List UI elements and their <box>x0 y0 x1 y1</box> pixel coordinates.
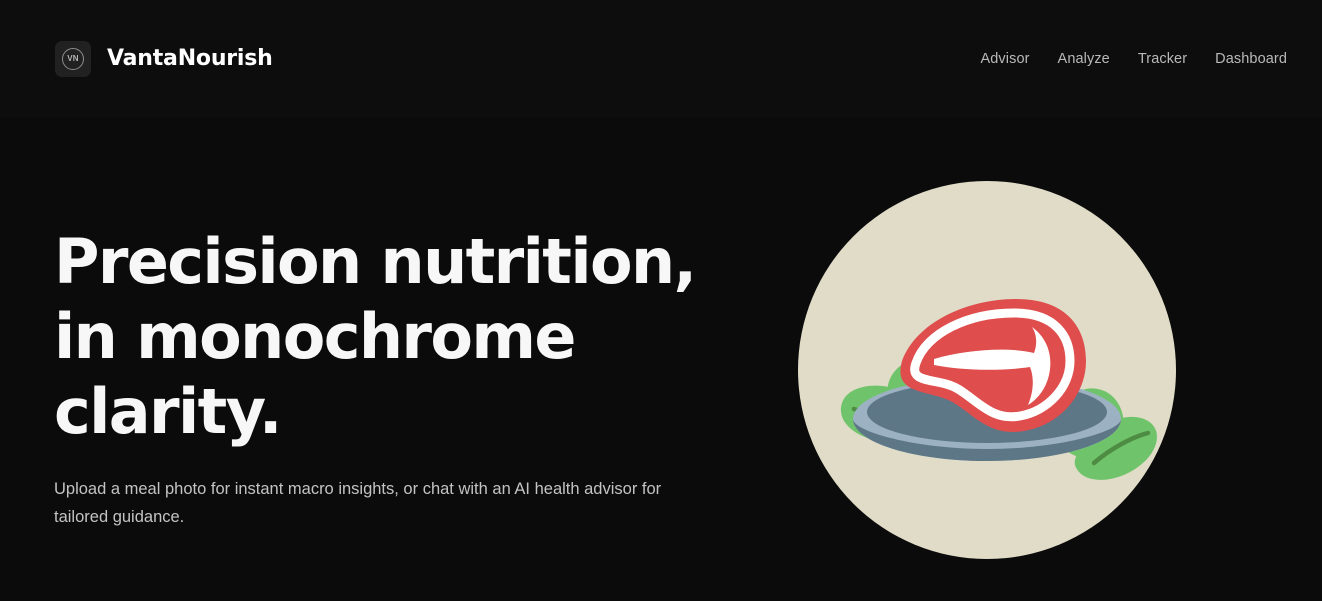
landing-page: VN VantaNourish Advisor Analyze Tracker … <box>0 0 1322 601</box>
brand-name: VantaNourish <box>107 46 273 71</box>
logo-monogram-text: VN <box>67 55 79 63</box>
brand-logo[interactable]: VN VantaNourish <box>55 41 273 77</box>
hero-copy: Precision nutrition, in monochrome clari… <box>54 224 714 531</box>
nav-link-tracker[interactable]: Tracker <box>1138 51 1187 67</box>
nav-link-advisor[interactable]: Advisor <box>980 51 1029 67</box>
main-nav: Advisor Analyze Tracker Dashboard <box>980 51 1287 67</box>
steak-on-plate-illustration <box>798 181 1176 559</box>
logo-tile: VN <box>55 41 91 77</box>
hero-subtitle: Upload a meal photo for instant macro in… <box>54 475 669 531</box>
page-title: Precision nutrition, in monochrome clari… <box>54 224 714 449</box>
nav-link-analyze[interactable]: Analyze <box>1058 51 1110 67</box>
site-header: VN VantaNourish Advisor Analyze Tracker … <box>0 0 1322 117</box>
hero-section: Precision nutrition, in monochrome clari… <box>0 117 1322 601</box>
vn-monogram-icon: VN <box>62 48 84 70</box>
nav-link-dashboard[interactable]: Dashboard <box>1215 51 1287 67</box>
